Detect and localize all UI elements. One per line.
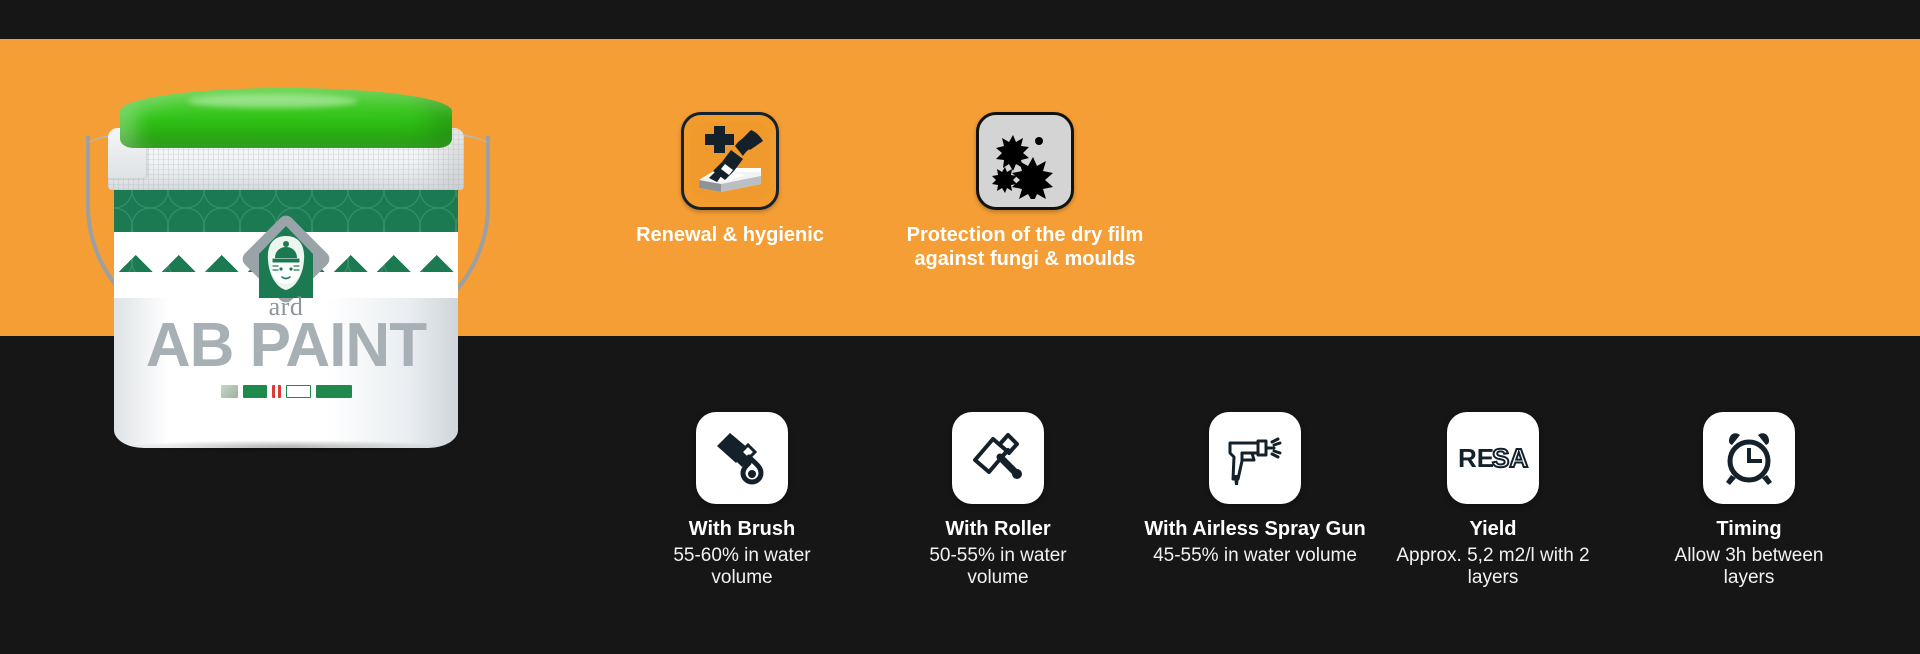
product-image-ab-paint-bucket: ard AB PAINT — [78, 88, 498, 458]
feature-title: With Brush — [652, 518, 832, 542]
recycle-badge — [221, 385, 238, 398]
alarm-clock-icon — [1703, 412, 1795, 504]
feature-detail: 50-55% in water volume — [908, 545, 1088, 591]
poster-canvas: ard AB PAINT — [0, 0, 1920, 654]
feature-detail: 45-55% in water volume — [1140, 545, 1370, 568]
application-yield[interactable]: RE SA Yield Approx. 5,2 m2/l with 2 laye… — [1393, 412, 1593, 590]
feature-title: Protection of the dry film against fungi… — [900, 224, 1150, 271]
feature-title: Renewal & hygienic — [630, 224, 830, 248]
feature-title: Yield — [1393, 518, 1593, 542]
airless-spray-gun-icon — [1209, 412, 1301, 504]
feature-title: With Airless Spray Gun — [1140, 518, 1370, 542]
germs-mould-icon — [976, 112, 1074, 210]
feature-detail: 55-60% in water volume — [652, 545, 832, 591]
feature-detail: Approx. 5,2 m2/l with 2 layers — [1393, 545, 1593, 591]
feature-fungi-mould-protection[interactable]: Protection of the dry film against fungi… — [900, 112, 1150, 271]
brush-plus-hygiene-icon — [681, 112, 779, 210]
svg-text:SA: SA — [1492, 443, 1528, 473]
application-with-airless-spray-gun[interactable]: With Airless Spray Gun 45-55% in water v… — [1140, 412, 1370, 567]
feature-renewal-hygienic[interactable]: Renewal & hygienic — [630, 112, 830, 248]
bucket-drop-shadow — [122, 440, 452, 454]
application-with-brush[interactable]: With Brush 55-60% in water volume — [652, 412, 832, 590]
svg-text:RE: RE — [1458, 443, 1494, 473]
paint-roller-icon — [952, 412, 1044, 504]
bucket-lid — [120, 88, 452, 148]
certification-badges — [114, 385, 458, 398]
made-in-italy-badge — [243, 385, 267, 398]
product-name: AB PAINT — [114, 310, 458, 381]
feature-title: With Roller — [908, 518, 1088, 542]
feature-detail: Allow 3h between layers — [1649, 545, 1849, 591]
application-with-roller[interactable]: With Roller 50-55% in water volume — [908, 412, 1088, 590]
ard-face-logo-icon — [251, 224, 321, 298]
application-timing[interactable]: Timing Allow 3h between layers — [1649, 412, 1849, 590]
italy-flag-badge — [272, 385, 281, 398]
feature-title: Timing — [1649, 518, 1849, 542]
antimould-badge — [316, 385, 352, 398]
bucket-lid-highlight — [188, 94, 358, 108]
paint-brush-icon — [696, 412, 788, 504]
resa-yield-icon: RE SA — [1447, 412, 1539, 504]
100-percent-badge — [286, 385, 311, 398]
bucket-body: ard AB PAINT — [114, 180, 458, 448]
